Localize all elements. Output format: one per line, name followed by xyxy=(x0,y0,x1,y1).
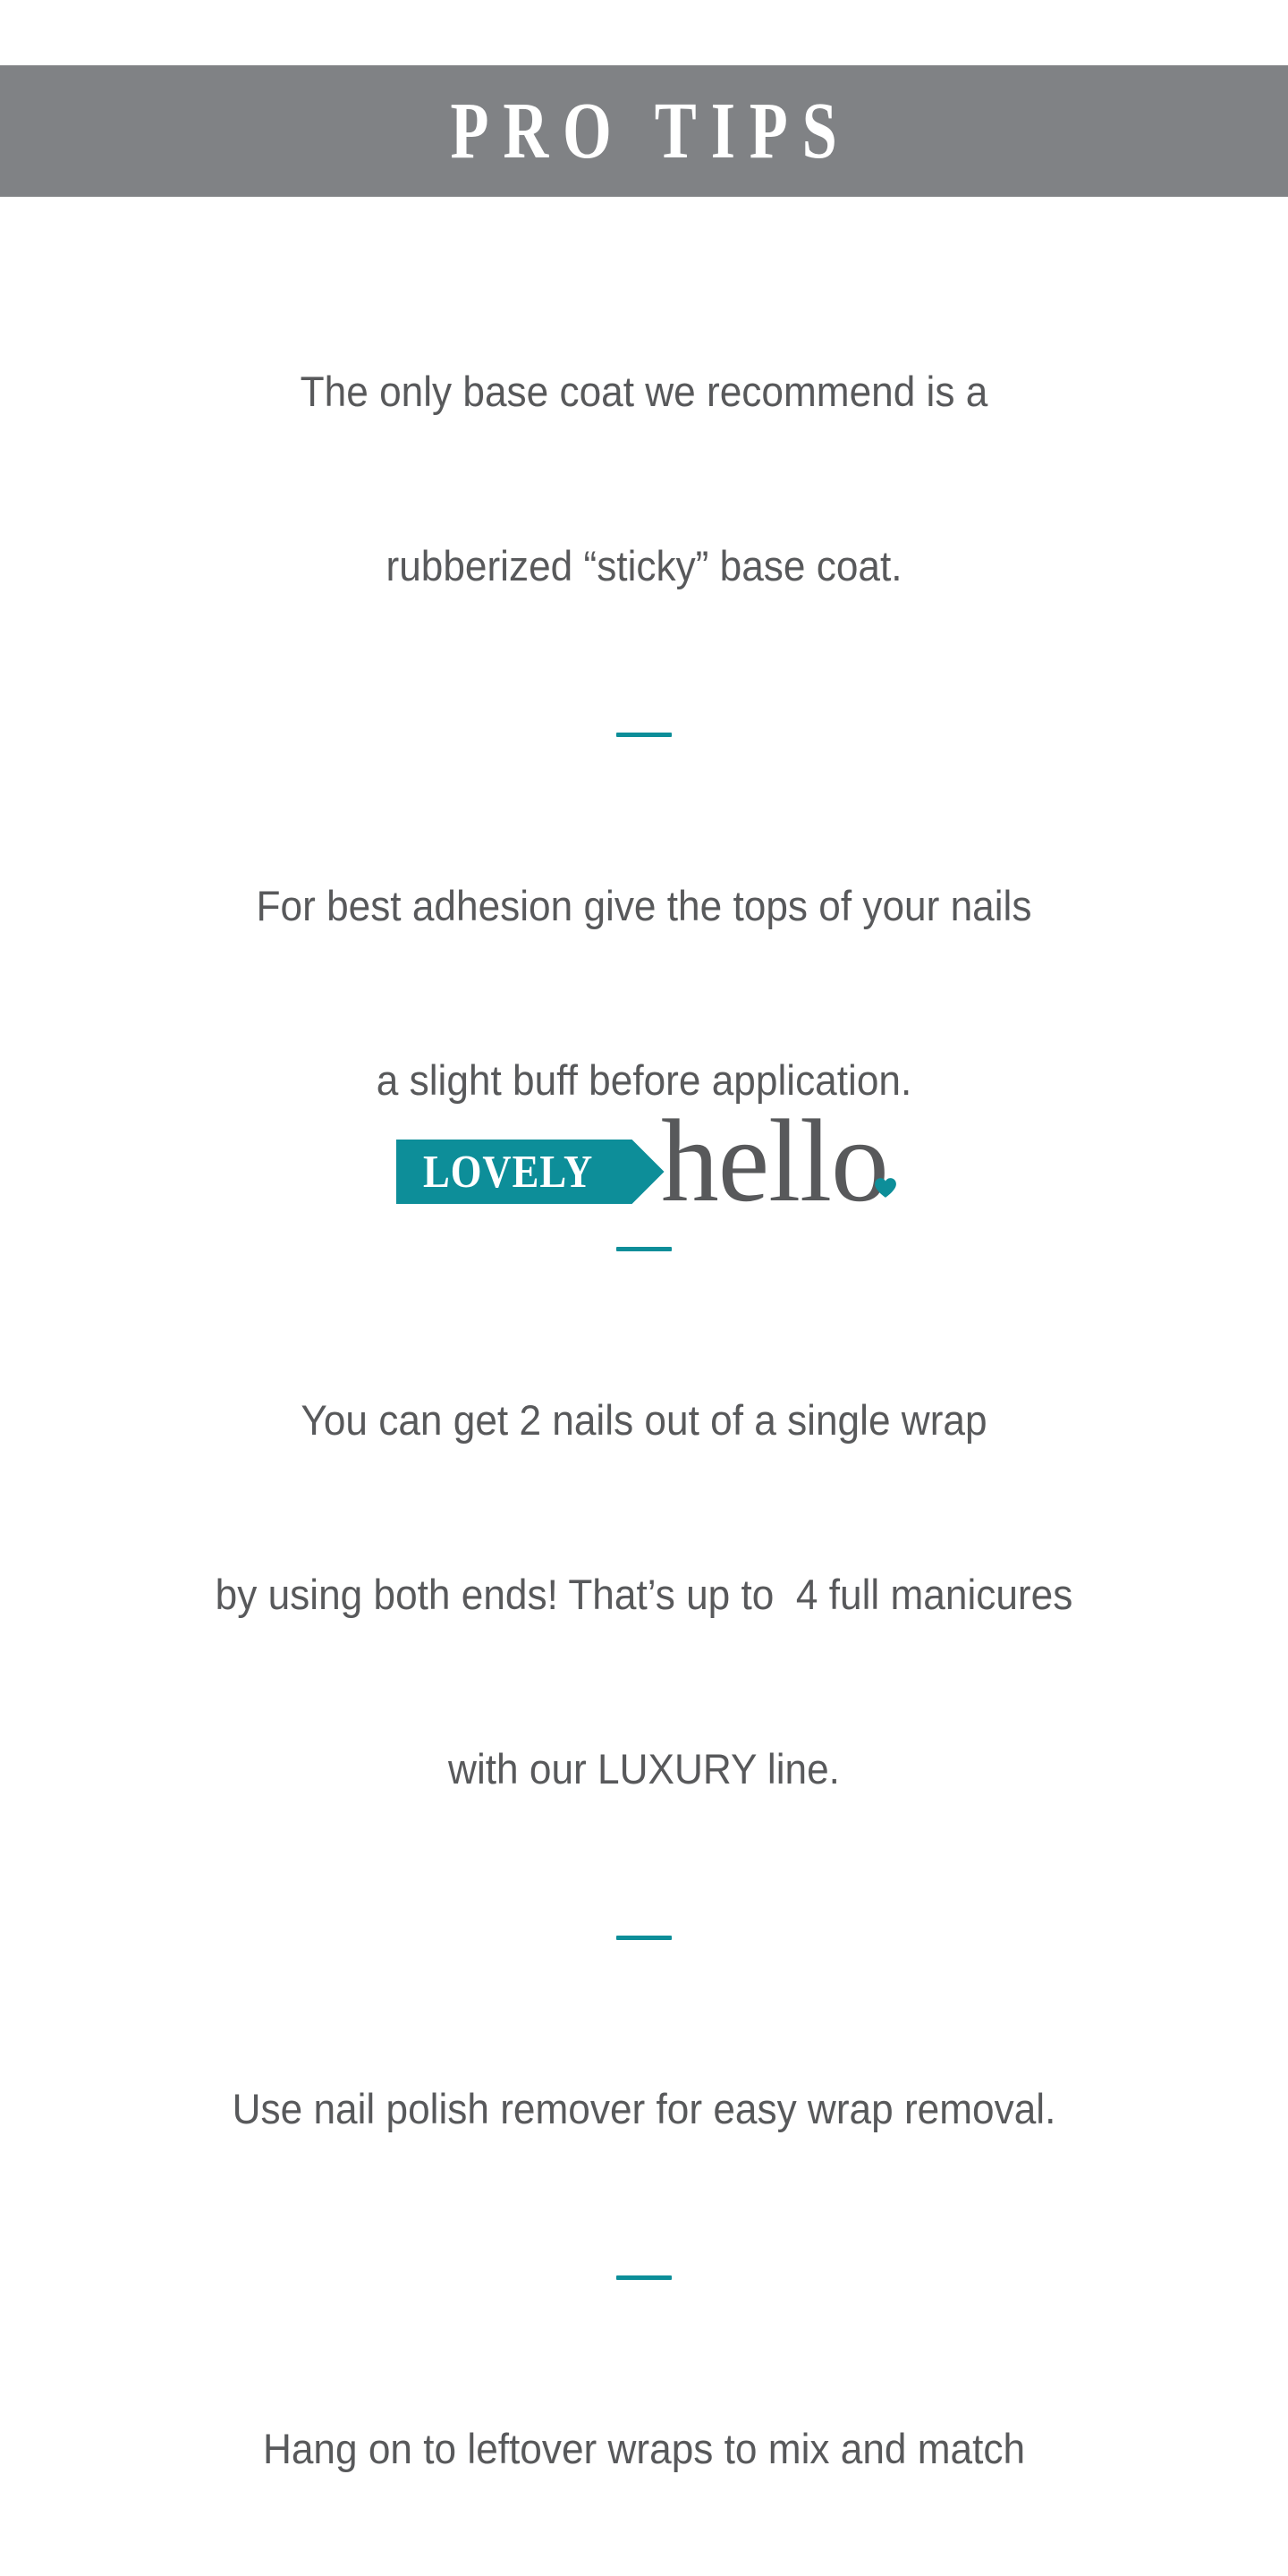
pro-tips-page: PRO TIPS The only base coat we recommend… xyxy=(0,0,1288,1288)
brand-logo: LOVELY hello xyxy=(0,1109,1288,1234)
tip-line: Hang on to leftover wraps to mix and mat… xyxy=(148,2419,1140,2478)
tip-line: a slight buff before application. xyxy=(148,1051,1140,1109)
tip-divider xyxy=(616,1936,672,1940)
logo-banner-arrow: LOVELY xyxy=(396,1140,665,1204)
tips-list: The only base coat we recommend is a rub… xyxy=(0,246,1288,2576)
tip-line: by using both ends! That’s up to 4 full … xyxy=(148,1565,1140,1623)
header-band: PRO TIPS xyxy=(0,65,1288,197)
logo-hello-text: hello xyxy=(661,1109,888,1213)
tip-line: rubberized “sticky” base coat. xyxy=(148,537,1140,595)
logo-wordmark-wrap: hello xyxy=(661,1109,893,1213)
tip-leftovers: Hang on to leftover wraps to mix and mat… xyxy=(148,2303,1140,2576)
tip-removal: Use nail polish remover for easy wrap re… xyxy=(148,1963,1140,2254)
logo-lovely-text: LOVELY xyxy=(423,1148,593,1195)
tip-line: You can get 2 nails out of a single wrap xyxy=(148,1391,1140,1449)
tip-base-coat: The only base coat we recommend is a rub… xyxy=(148,246,1140,711)
tip-line: For best adhesion give the tops of your … xyxy=(148,877,1140,935)
logo-inner: LOVELY hello xyxy=(396,1109,893,1234)
tip-line: Use nail polish remover for easy wrap re… xyxy=(148,2080,1140,2138)
tip-line: with our LUXURY line. xyxy=(148,1740,1140,1798)
tip-line: The only base coat we recommend is a xyxy=(148,362,1140,420)
page-title: PRO TIPS xyxy=(436,91,852,172)
tip-divider xyxy=(616,1247,672,1251)
tip-divider xyxy=(616,733,672,737)
tip-divider xyxy=(616,2275,672,2280)
tip-two-nails: You can get 2 nails out of a single wrap… xyxy=(148,1275,1140,1914)
